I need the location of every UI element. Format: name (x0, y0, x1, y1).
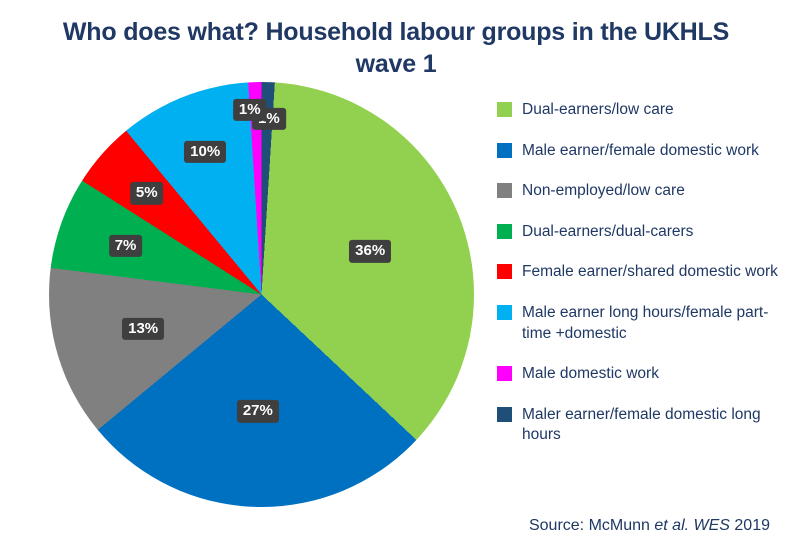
legend-swatch-icon (497, 305, 512, 320)
source-prefix: Source: McMunn (529, 517, 654, 534)
legend-item: Male earner/female domestic work (497, 141, 785, 162)
legend-item: Female earner/shared domestic work (497, 262, 785, 283)
page-title: Who does what? Household labour groups i… (40, 16, 752, 80)
pie-slice-label: 27% (237, 400, 279, 422)
pie-chart: 1%36%27%13%7%5%10%1% (38, 78, 478, 518)
pie-slice-label: 36% (349, 240, 391, 262)
legend-swatch-icon (497, 183, 512, 198)
legend-label: Female earner/shared domestic work (522, 262, 778, 283)
legend-swatch-icon (497, 264, 512, 279)
legend-label: Dual-earners/low care (522, 100, 674, 121)
legend-label: Male earner/female domestic work (522, 141, 759, 162)
legend-item: Male domestic work (497, 364, 785, 385)
pie-slice-label: 5% (130, 182, 164, 204)
legend-item: Non-employed/low care (497, 181, 785, 202)
chart-legend: Dual-earners/low careMale earner/female … (497, 100, 785, 466)
legend-swatch-icon (497, 143, 512, 158)
legend-label: Non-employed/low care (522, 181, 685, 202)
legend-swatch-icon (497, 224, 512, 239)
legend-label: Male domestic work (522, 364, 659, 385)
pie-slice-label: 10% (184, 141, 226, 163)
legend-item: Dual-earners/low care (497, 100, 785, 121)
legend-item: Dual-earners/dual-carers (497, 222, 785, 243)
legend-swatch-icon (497, 102, 512, 117)
legend-swatch-icon (497, 366, 512, 381)
legend-label: Male earner long hours/female part-time … (522, 303, 785, 344)
legend-label: Maler earner/female domestic long hours (522, 405, 785, 446)
legend-item: Male earner long hours/female part-time … (497, 303, 785, 344)
legend-item: Maler earner/female domestic long hours (497, 405, 785, 446)
pie-slice-label: 7% (109, 234, 143, 256)
pie-slice-label: 13% (122, 318, 164, 340)
legend-label: Dual-earners/dual-carers (522, 222, 693, 243)
pie-slice-label: 1% (233, 99, 267, 121)
legend-swatch-icon (497, 407, 512, 422)
source-suffix: 2019 (730, 517, 770, 534)
source-italic: et al. WES (654, 517, 730, 534)
pie-graphic (49, 82, 474, 507)
source-note: Source: McMunn et al. WES 2019 (529, 517, 770, 535)
